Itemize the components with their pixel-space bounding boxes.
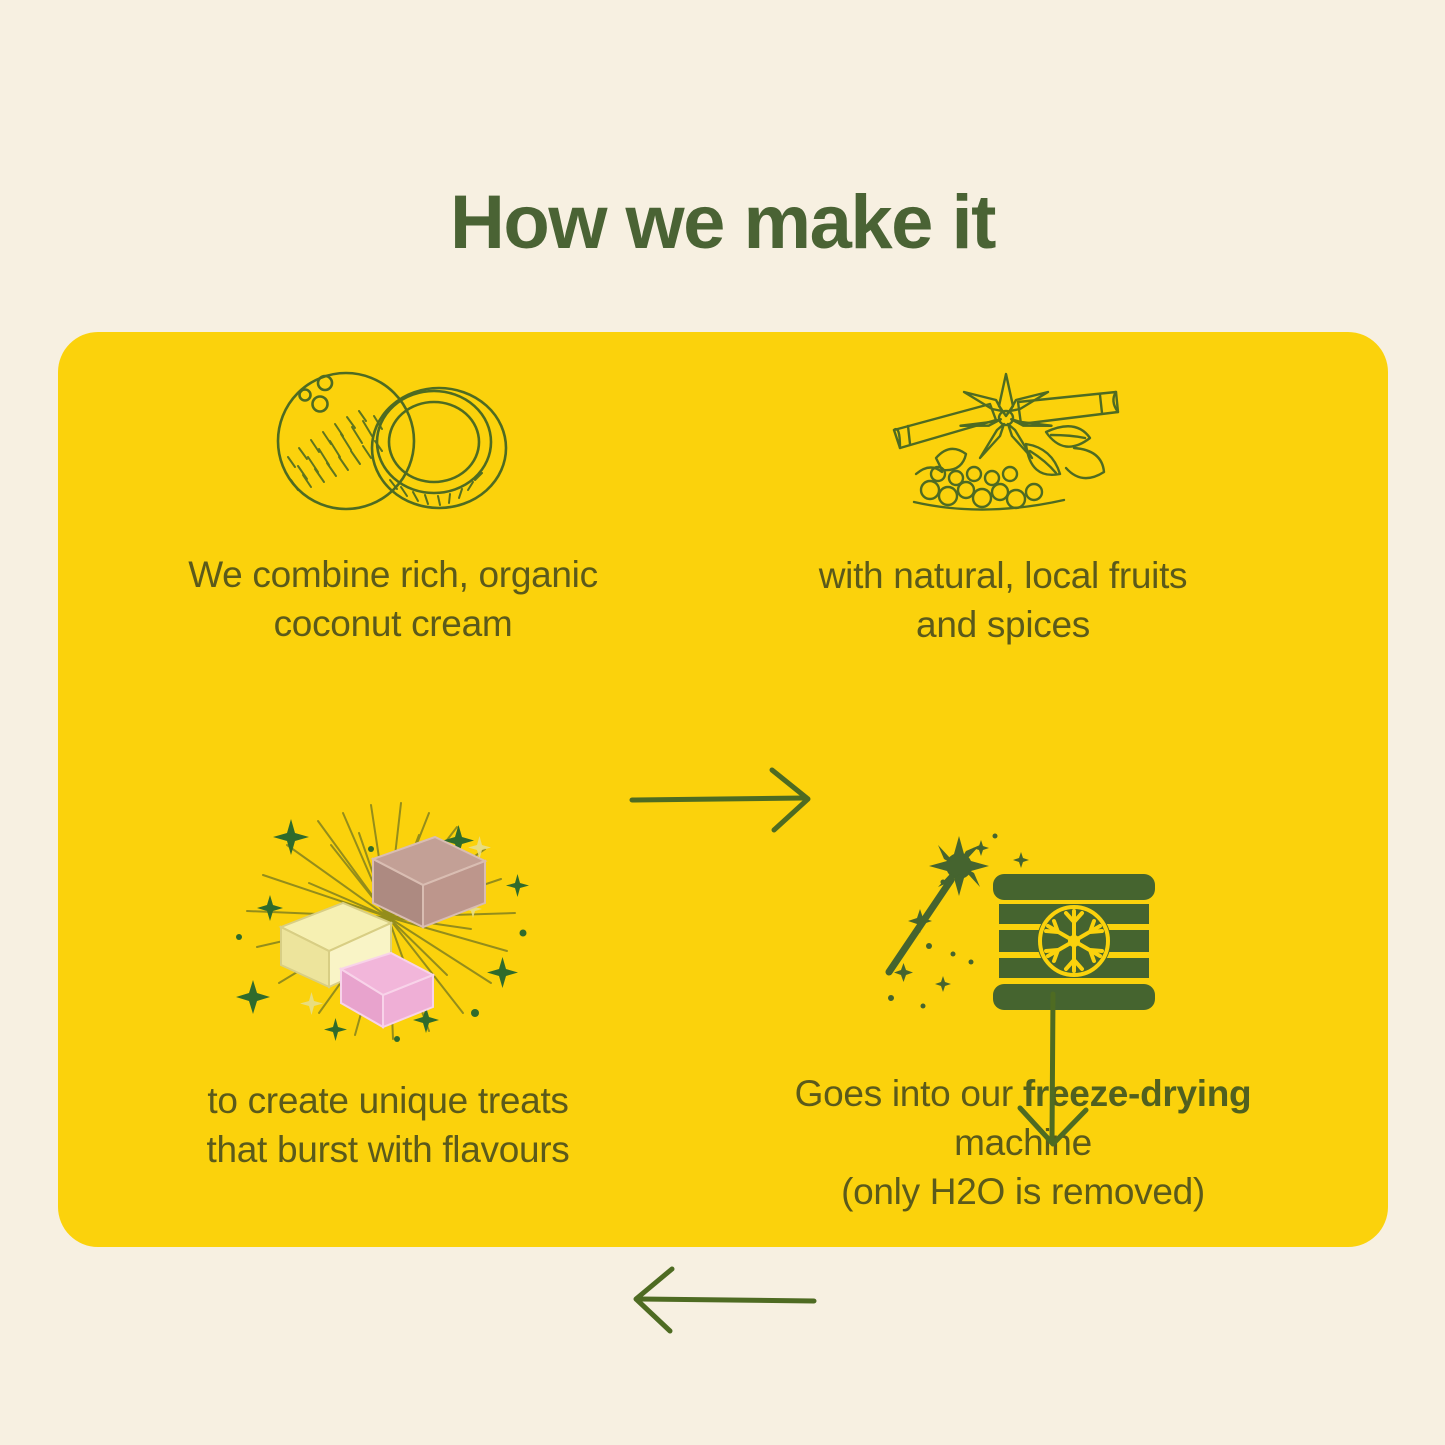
coconut-icon: [258, 362, 528, 517]
caption-prefix: Goes into our: [795, 1073, 1023, 1114]
process-step-treats: to create unique treats that burst with …: [88, 787, 688, 1175]
arrow-left-icon: [618, 1257, 818, 1342]
caption-line-h2o: (only H2O is removed): [841, 1171, 1205, 1212]
step-caption-spices: with natural, local fruits and spices: [718, 552, 1288, 650]
process-step-coconut: We combine rich, organic coconut cream: [98, 362, 688, 649]
step-caption-treats: to create unique treats that burst with …: [88, 1077, 688, 1175]
step-caption-coconut: We combine rich, organic coconut cream: [98, 551, 688, 649]
arrow-down-icon: [998, 990, 1108, 1155]
arrow-right-icon: [628, 760, 823, 840]
freeze-dried-treats-icon: [223, 787, 553, 1047]
page-title: How we make it: [0, 183, 1445, 263]
process-step-spices: with natural, local fruits and spices: [718, 362, 1288, 650]
fruits-and-spices-icon: [878, 362, 1128, 522]
process-card: We combine rich, organic coconut cream: [58, 332, 1388, 1247]
